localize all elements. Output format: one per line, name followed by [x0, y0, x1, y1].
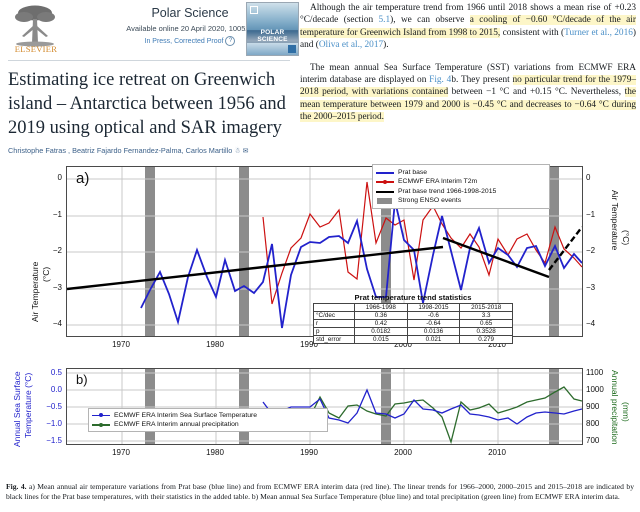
legend-label: ECMWF ERA Interim Sea Surface Temperatur… [114, 412, 257, 419]
legend-label: ECMWF ERA Interim T2m [398, 178, 477, 185]
legend-item-ecmwf-t2m[interactable]: ECMWF ERA Interim T2m [376, 177, 546, 186]
legend-line-icon [376, 187, 394, 195]
panel-b-ylabel-right-line1: Annual precipitation [610, 370, 620, 445]
panel-a-label: a) [76, 170, 89, 187]
stats-cell: 0.279 [460, 336, 513, 344]
panel-a-ylabel-right: Air Temperature [610, 190, 620, 250]
elsevier-wordmark: ELSEVIER [10, 44, 62, 54]
legend-item-enso[interactable]: Strong ENSO events [376, 196, 546, 205]
panel-b-xtick-2000: 2000 [383, 448, 423, 457]
table-row: °C/dec 0.36 -0.6 3.3 [314, 312, 513, 320]
cover-title: POLAR SCIENCE [247, 30, 298, 43]
panel-a-ytick-right-m2: −2 [586, 246, 608, 255]
panel-a-ytick-m4: −4 [40, 319, 62, 328]
panel-b-xtick-2010: 2010 [477, 448, 517, 457]
panel-b-xtick-1990: 1990 [289, 448, 329, 457]
legend-line-marker-icon [92, 411, 110, 419]
panel-b-ytick-m15: −1.5 [32, 436, 62, 445]
stats-row-label: r [314, 320, 355, 328]
panel-a-ytick-m3: −3 [40, 283, 62, 292]
stats-cell: 3.3 [460, 312, 513, 320]
stats-row-label: °C/dec [314, 312, 355, 320]
legend-label: Strong ENSO events [398, 197, 461, 204]
panel-b-ytick-m10: −1.0 [32, 419, 62, 428]
legend-item-precipitation[interactable]: ECMWF ERA Interim annual precipitation [92, 420, 324, 429]
panel-a-xtick-1970: 1970 [101, 340, 141, 349]
table-row: std_error 0.015 0.021 0.279 [314, 336, 513, 344]
panel-a-ylabel-unit: (°C) [41, 267, 51, 282]
table-row: p 0.0182 0.0136 0.3528 [314, 328, 513, 336]
article-title: Estimating ice retreat on Greenwich isla… [8, 68, 293, 140]
stats-col-1: 1966-1998 [355, 304, 408, 312]
panel-b-legend: ECMWF ERA Interim Sea Surface Temperatur… [88, 408, 328, 432]
panel-a-ytick-right-m4: −4 [586, 319, 608, 328]
p2-s3: between −1 °C and +0.15 °C. Nevertheless… [448, 87, 625, 97]
panel-b-ylabel-line2: Temperature (°C) [23, 373, 33, 438]
stats-cell: 0.0136 [407, 328, 460, 336]
grid [67, 369, 582, 444]
legend-item-sst[interactable]: ECMWF ERA Interim Sea Surface Temperatur… [92, 411, 324, 420]
cover-mark-icon [250, 6, 258, 14]
cover-logo-icon [288, 45, 296, 53]
section-link[interactable]: 5.1 [379, 15, 391, 25]
stats-cell: 0.021 [407, 336, 460, 344]
header-divider [8, 60, 290, 61]
legend-label: Prat base [398, 169, 427, 176]
stats-cell: 0.0182 [355, 328, 408, 336]
article-page: ELSEVIER Polar Science Available online … [0, 0, 640, 512]
chart-panel-b[interactable] [66, 368, 583, 445]
figure-caption: Fig. 4. a) Mean annual air temperature v… [6, 482, 634, 501]
stats-col-3: 2015-2018 [460, 304, 513, 312]
panel-b-svg [67, 369, 582, 444]
help-icon[interactable]: ? [225, 36, 235, 46]
p2-s2: b. They present [451, 75, 512, 85]
panel-a-ytick-right-m1: −1 [586, 210, 608, 219]
stats-table-wrap: Prat temperature trend statistics 1966-1… [313, 293, 513, 344]
panel-b-label: b) [76, 372, 88, 387]
panel-a-ytick-right-0: 0 [586, 173, 608, 182]
figure-link[interactable]: Fig. 4 [429, 75, 451, 85]
panel-b-ytick-00: 0.0 [36, 385, 62, 394]
caption-prefix: Fig. 4. [6, 482, 27, 491]
panel-a-ytick-m2: −2 [40, 246, 62, 255]
citation-link-turner[interactable]: Turner et al., 2016 [564, 28, 633, 38]
stats-col-0 [314, 304, 355, 312]
stats-table: 1966-1998 1998-2015 2015-2018 °C/dec 0.3… [313, 303, 513, 344]
panel-b-ylabel-line1: Annual Sea Surface [12, 371, 22, 447]
panel-b-ylabel-right-line2: (mm) [621, 402, 631, 422]
legend-label: ECMWF ERA Interim annual precipitation [114, 421, 239, 428]
panel-a-ytick-0: 0 [44, 173, 62, 182]
stats-row-label: p [314, 328, 355, 336]
stats-cell: -0.6 [407, 312, 460, 320]
legend-line-icon [376, 168, 394, 176]
panel-a-ylabel: Air Temperature [30, 262, 40, 322]
author-names: Christophe Fatras , Beatriz Fajardo Fern… [8, 146, 232, 155]
panel-b-ytick-05: 0.5 [36, 368, 62, 377]
citation-link-oliva[interactable]: Oliva et al., 2017 [319, 40, 383, 50]
panel-a-xtick-1980: 1980 [195, 340, 235, 349]
journal-status-text: In Press, Corrected Proof [145, 38, 224, 45]
body-text-column: Although the air temperature trend from … [300, 2, 636, 134]
paragraph-2: The mean annual Sea Surface Temperature … [300, 62, 636, 124]
legend-item-prat-trend[interactable]: Prat base trend 1966-1998-2015 [376, 187, 546, 196]
legend-line-marker-icon [376, 178, 394, 186]
panel-b-ytick-m05: −0.5 [32, 402, 62, 411]
stats-cell: 0.36 [355, 312, 408, 320]
caption-text: a) Mean annual air temperature variation… [6, 482, 634, 501]
author-profile-icon[interactable]: ☃ [234, 148, 240, 155]
legend-item-prat-base[interactable]: Prat base [376, 168, 546, 177]
panel-b-xtick-1980: 1980 [195, 448, 235, 457]
legend-patch-icon [376, 197, 394, 205]
stats-row-label: std_error [314, 336, 355, 344]
panel-a-ytick-right-m3: −3 [586, 283, 608, 292]
figure-4: a) 0 −1 −2 −3 −4 0 −1 −2 −3 −4 Air Tempe… [0, 162, 640, 480]
email-icon[interactable]: ✉ [243, 148, 249, 155]
panel-a-ytick-m1: −1 [40, 210, 62, 219]
stats-cell: 0.42 [355, 320, 408, 328]
trend-lines [67, 227, 582, 289]
p1-s3: consistent with ( [500, 28, 564, 38]
journal-cover-thumbnail[interactable]: POLAR SCIENCE [246, 2, 299, 56]
panel-a-legend: Prat base ECMWF ERA Interim T2m Prat bas… [372, 164, 550, 209]
stats-cell: 0.65 [460, 320, 513, 328]
stats-col-2: 1998-2015 [407, 304, 460, 312]
stats-title: Prat temperature trend statistics [313, 293, 513, 302]
paragraph-1: Although the air temperature trend from … [300, 2, 636, 52]
legend-line-marker-icon [92, 421, 110, 429]
panel-a-ylabel-right-unit: (°C) [621, 230, 631, 245]
journal-header: ELSEVIER Polar Science Available online … [0, 0, 292, 58]
elsevier-logo: ELSEVIER [8, 3, 62, 55]
legend-label: Prat base trend 1966-1998-2015 [398, 188, 496, 195]
stats-cell: 0.015 [355, 336, 408, 344]
table-row: r 0.42 -0.64 0.65 [314, 320, 513, 328]
author-list: Christophe Fatras , Beatriz Fajardo Fern… [8, 146, 293, 155]
stats-cell: -0.64 [407, 320, 460, 328]
table-header-row: 1966-1998 1998-2015 2015-2018 [314, 304, 513, 312]
panel-b-xtick-1970: 1970 [101, 448, 141, 457]
p1-s5: ). [383, 40, 388, 50]
p1-s2: ), we can observe [390, 15, 470, 25]
stats-cell: 0.3528 [460, 328, 513, 336]
